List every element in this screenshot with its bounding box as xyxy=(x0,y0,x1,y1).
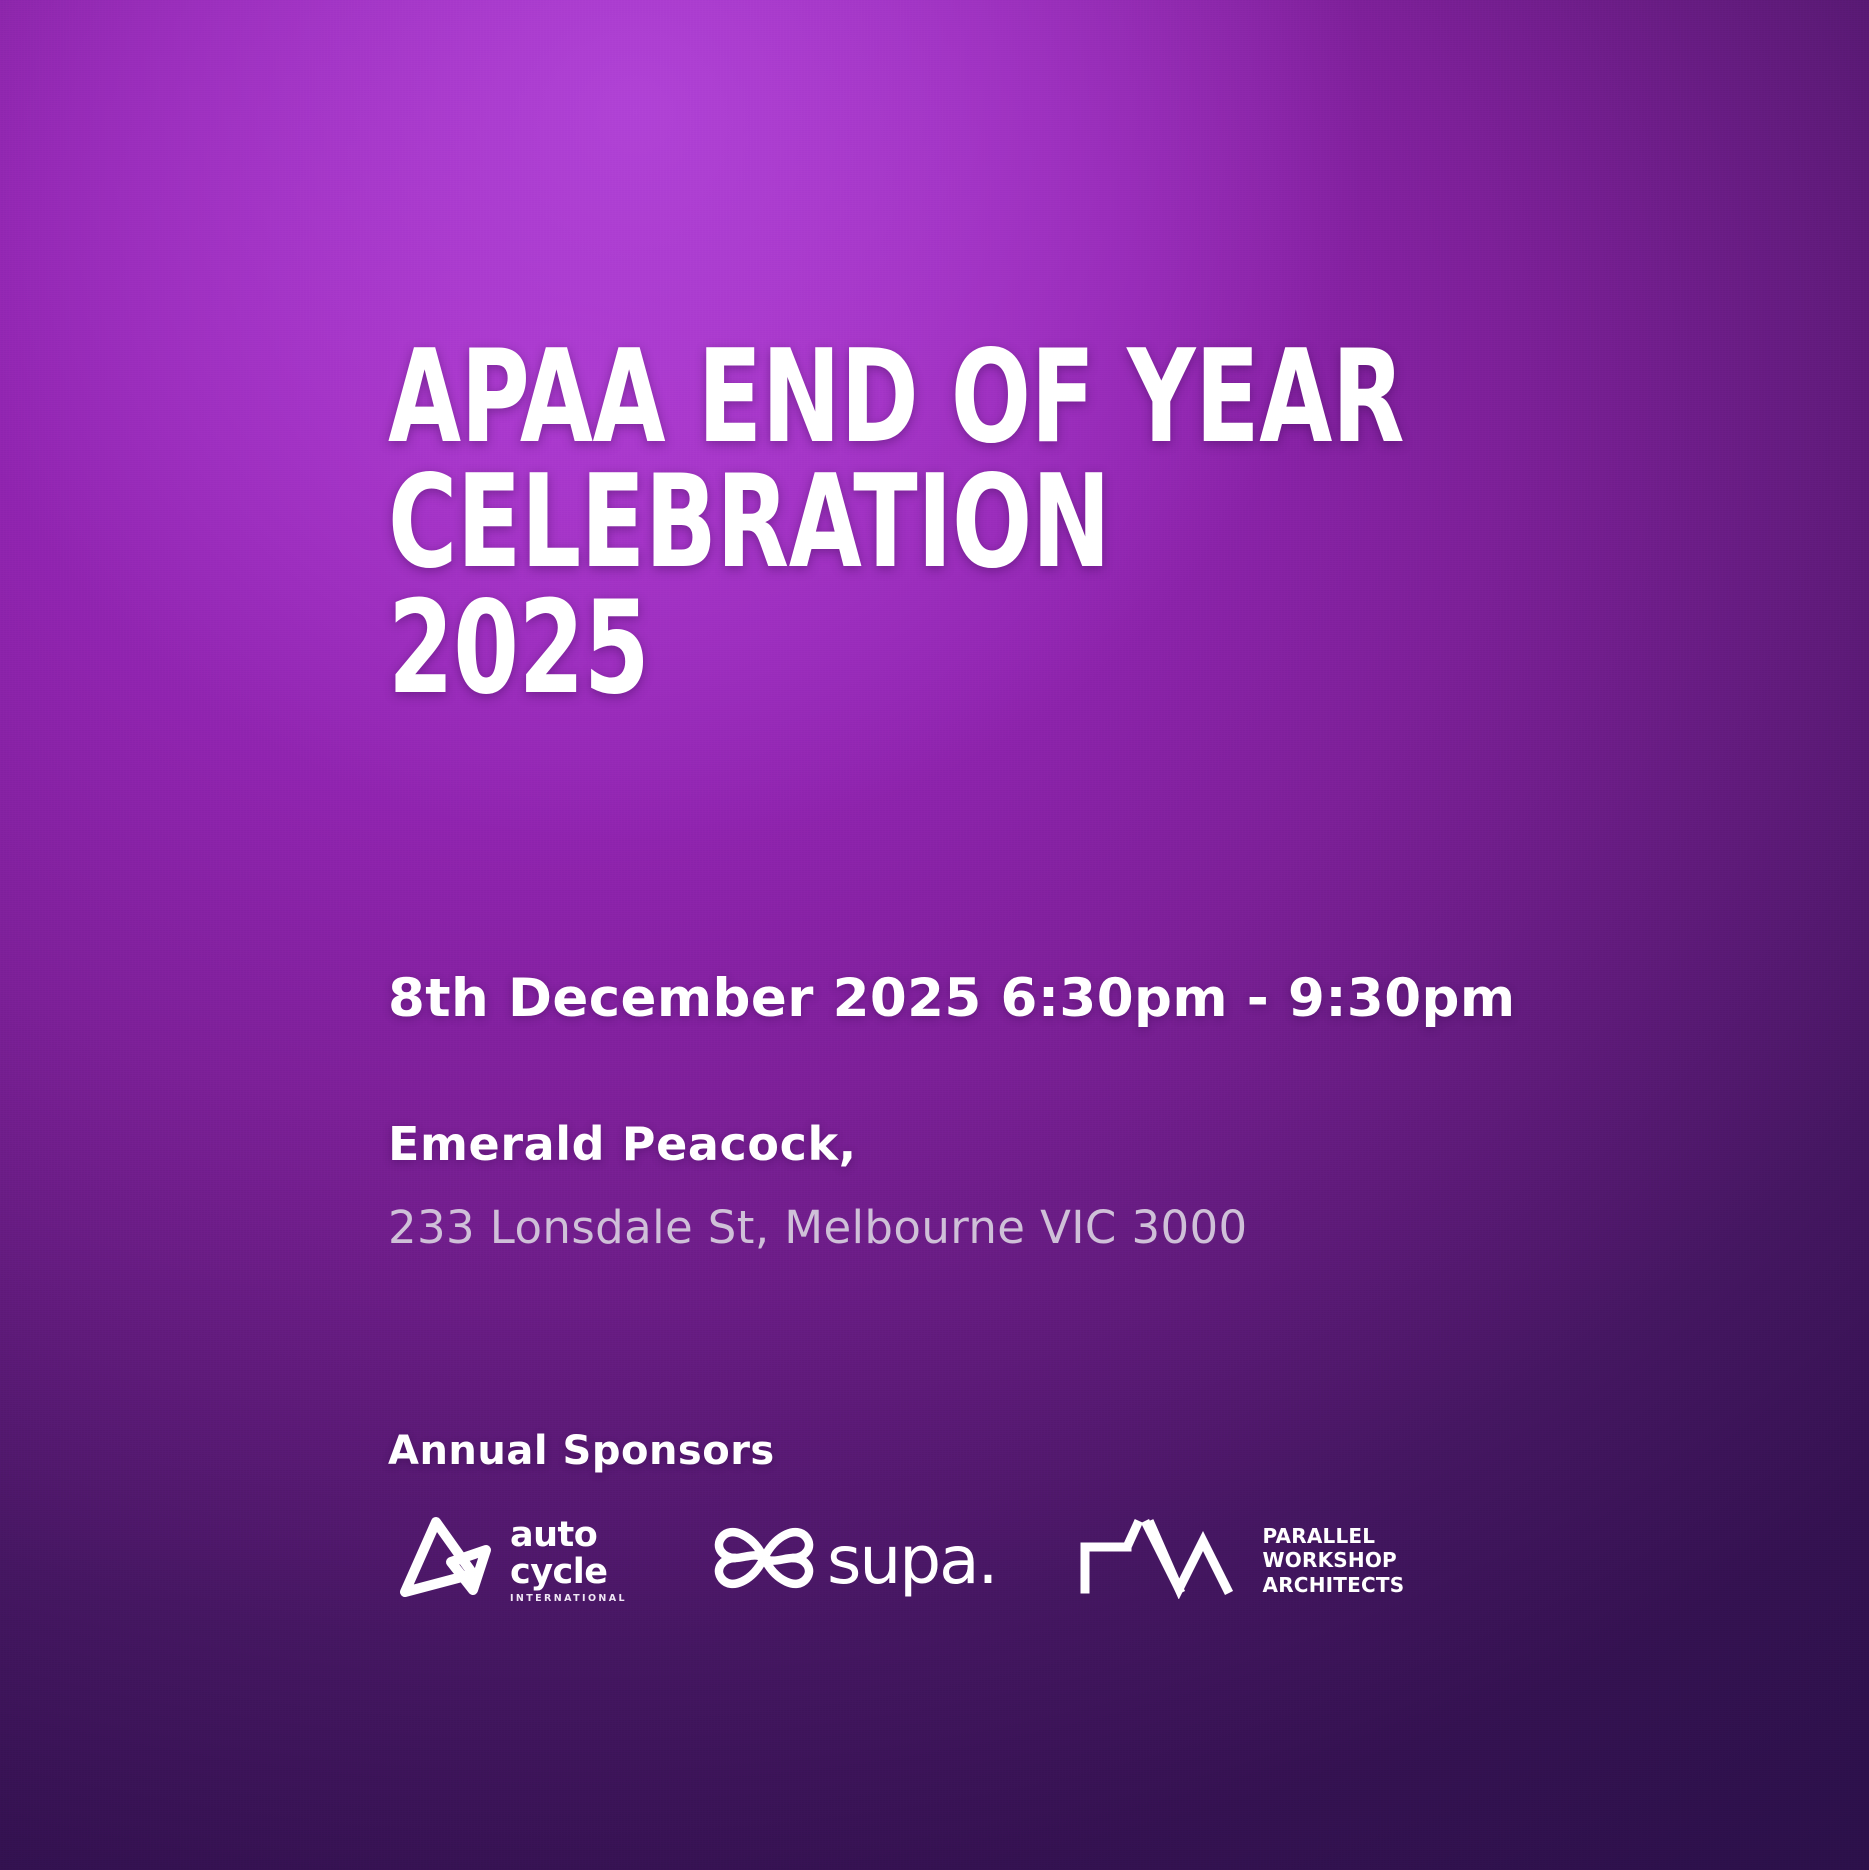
supa-wordmark: supa. xyxy=(827,1528,997,1594)
pwa-line-3: ARCHITECTS xyxy=(1263,1573,1405,1597)
supa-butterfly-mark-icon xyxy=(705,1512,823,1609)
venue-name: Emerald Peacock, xyxy=(388,1117,1515,1171)
event-date-time: 8th December 2025 6:30pm - 9:30pm xyxy=(388,968,1515,1029)
autocycle-line-1: auto xyxy=(510,1518,627,1553)
title-line-1: APAA END OF YEAR xyxy=(388,335,1404,460)
poster-content: APAA END OF YEAR CELEBRATION 2025 8th De… xyxy=(388,0,1588,1870)
sponsor-logo-pwa: PARALLEL WORKSHOP ARCHITECTS xyxy=(1075,1517,1405,1604)
pwa-wordmark: PARALLEL WORKSHOP ARCHITECTS xyxy=(1263,1524,1405,1597)
autocycle-line-2: cycle xyxy=(510,1555,627,1590)
poster-title: APAA END OF YEAR CELEBRATION 2025 xyxy=(388,335,1627,711)
sponsor-logo-row: auto cycle INTERNATIONAL xyxy=(388,1512,1404,1609)
sponsor-logo-supa: supa. xyxy=(705,1512,997,1609)
title-line-3: 2025 xyxy=(388,586,1404,711)
title-line-2: CELEBRATION xyxy=(388,460,1404,585)
autocycle-subtitle: INTERNATIONAL xyxy=(510,1594,627,1604)
sponsors-section: Annual Sponsors auto cycle INTERNATIONAL xyxy=(388,1428,1404,1609)
pwa-line-1: PARALLEL xyxy=(1263,1524,1405,1548)
autocycle-triangle-mark-icon xyxy=(388,1512,500,1609)
pwa-monogram-icon xyxy=(1075,1517,1247,1604)
pwa-line-2: WORKSHOP xyxy=(1263,1548,1405,1572)
event-poster: APAA END OF YEAR CELEBRATION 2025 8th De… xyxy=(0,0,1869,1870)
sponsors-heading: Annual Sponsors xyxy=(388,1428,1404,1474)
sponsor-logo-autocycle: auto cycle INTERNATIONAL xyxy=(388,1512,627,1609)
event-details: 8th December 2025 6:30pm - 9:30pm Emeral… xyxy=(388,968,1515,1254)
venue-address: 233 Lonsdale St, Melbourne VIC 3000 xyxy=(388,1201,1515,1254)
autocycle-wordmark: auto cycle INTERNATIONAL xyxy=(510,1518,627,1604)
